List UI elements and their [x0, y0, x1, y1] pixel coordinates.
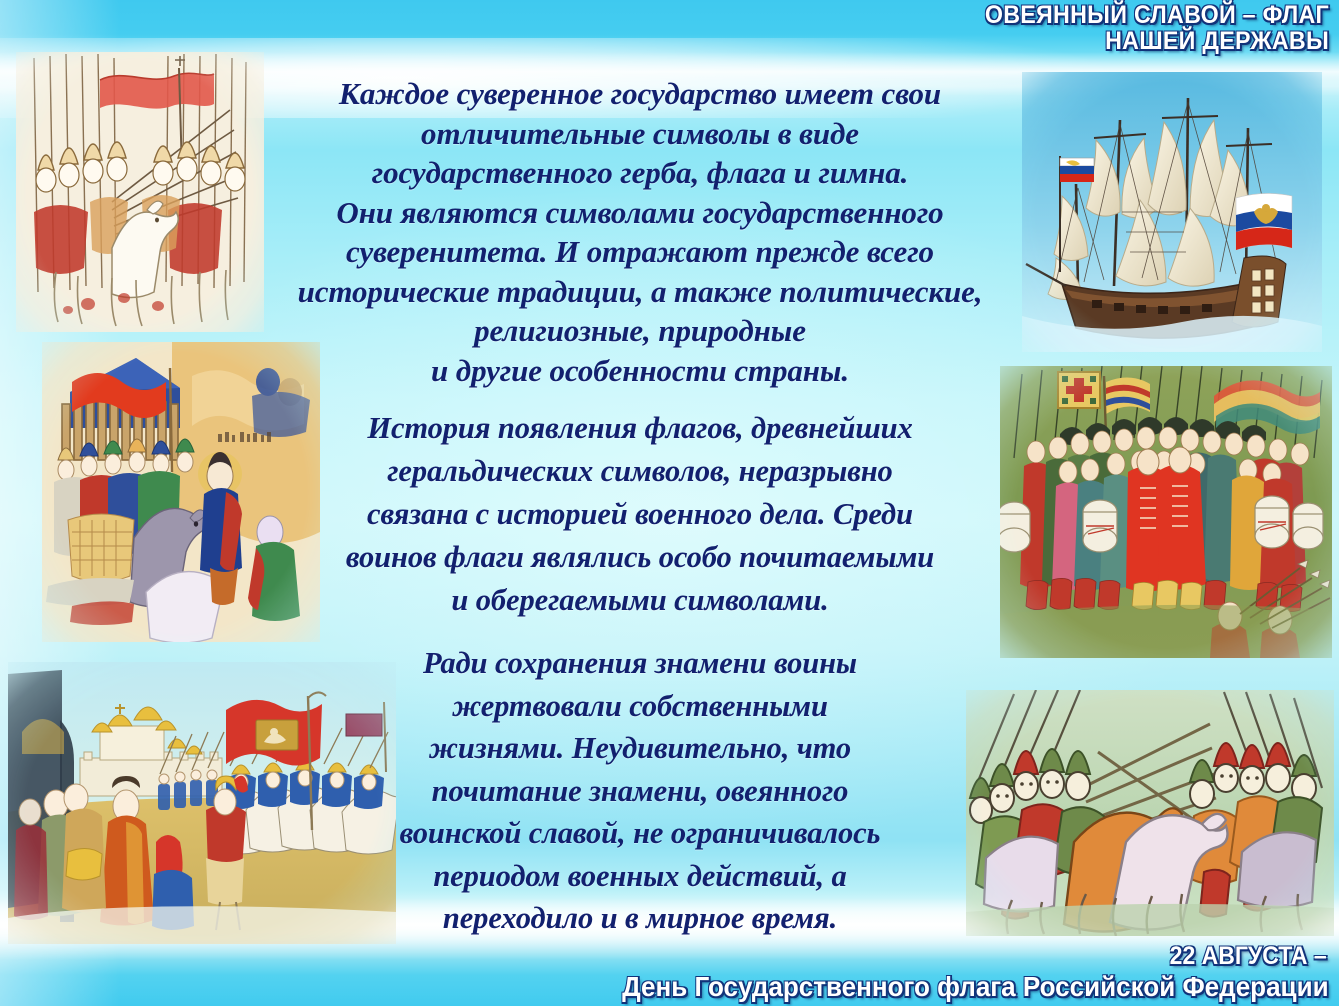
poster-root: ОВЕЯННЫЙ СЛАВОЙ – ФЛАГ НАШЕЙ ДЕРЖАВЫ Каж… — [0, 0, 1339, 1006]
image-sailing-ship-with-russian-tricolor — [1022, 72, 1322, 352]
paragraph-2: История появления флагов, древнейших гер… — [282, 407, 998, 622]
footer-date-line: 22 АВГУСТА – — [1170, 943, 1327, 970]
poster-text-column: Каждое суверенное государство имеет свои… — [282, 74, 998, 940]
warriors-illustration — [16, 52, 264, 332]
image-streltsy-regiments-with-banners — [1000, 366, 1332, 658]
ship-illustration — [1022, 72, 1322, 352]
streltsy-illustration — [1000, 366, 1332, 658]
battle-illustration — [966, 690, 1334, 936]
prince-illustration — [42, 342, 320, 642]
image-prince-with-troops-miniature — [42, 342, 320, 642]
header-band: ОВЕЯННЫЙ СЛАВОЙ – ФЛАГ НАШЕЙ ДЕРЖАВЫ — [0, 0, 1339, 56]
image-cavalry-battle-miniature — [966, 690, 1334, 936]
poster-header-title: ОВЕЯННЫЙ СЛАВОЙ – ФЛАГ НАШЕЙ ДЕРЖАВЫ — [734, 2, 1329, 54]
footer-subtitle-line: День Государственного флага Российской Ф… — [623, 972, 1329, 1002]
paragraph-1: Каждое суверенное государство имеет свои… — [282, 74, 998, 390]
image-medieval-warriors-with-red-banner — [16, 52, 264, 332]
footer-band: 22 АВГУСТА – День Государственного флага… — [0, 934, 1339, 1006]
paragraph-3: Ради сохранения знамени воины жертвовали… — [282, 642, 998, 940]
